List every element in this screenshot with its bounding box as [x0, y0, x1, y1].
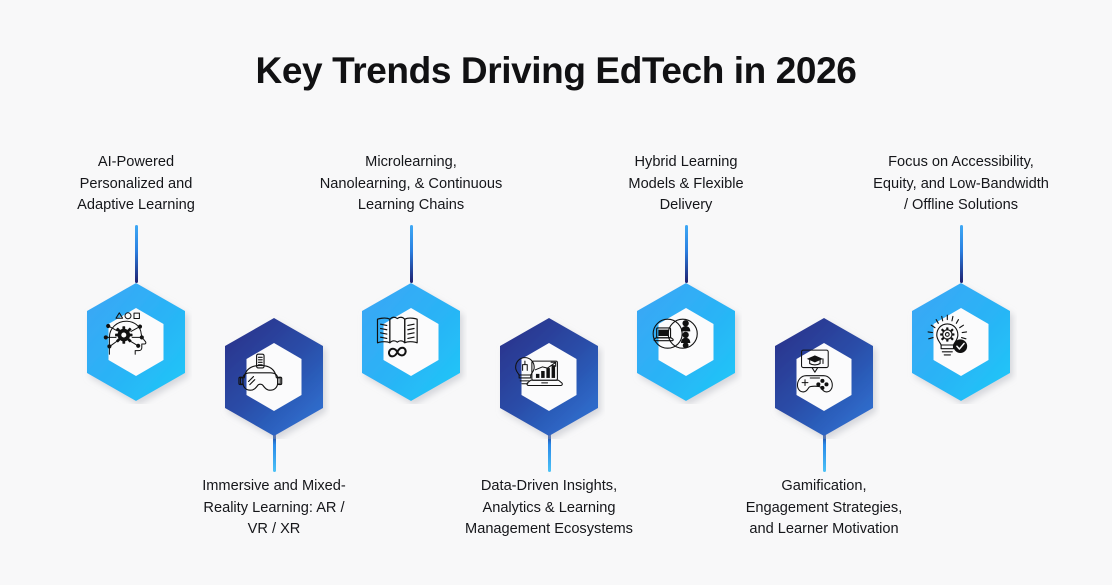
trend-label-immersive-mixed-reality-learning: Immersive and Mixed- Reality Learning: A… — [159, 476, 389, 541]
trend-label-ai-powered-personalized-adaptive-learning: AI-Powered Personalized and Adaptive Lea… — [36, 152, 236, 217]
hexagon-badge-gamification-engagement-learner-motivation[interactable] — [768, 315, 880, 439]
hexagon-badge-immersive-mixed-reality-learning[interactable] — [218, 315, 330, 439]
connector-line-hybrid-learning-models-flexible-delivery — [685, 225, 688, 283]
trend-label-accessibility-equity-low-bandwidth-offline: Focus on Accessibility, Equity, and Low-… — [831, 152, 1091, 217]
connector-line-ai-powered-personalized-adaptive-learning — [135, 225, 138, 283]
trend-label-microlearning-nanolearning-continuous-chains: Microlearning, Nanolearning, & Continuou… — [271, 152, 551, 217]
hexagon-badge-ai-powered-personalized-adaptive-learning[interactable] — [80, 280, 192, 404]
trend-label-hybrid-learning-models-flexible-delivery: Hybrid Learning Models & Flexible Delive… — [586, 152, 786, 217]
connector-line-accessibility-equity-low-bandwidth-offline — [960, 225, 963, 283]
hexagon-badge-hybrid-learning-models-flexible-delivery[interactable] — [630, 280, 742, 404]
infographic-canvas: Key Trends Driving EdTech in 2026 AI-Pow… — [0, 0, 1112, 585]
page-title: Key Trends Driving EdTech in 2026 — [0, 50, 1112, 92]
hexagon-badge-microlearning-nanolearning-continuous-chains[interactable] — [355, 280, 467, 404]
connector-line-microlearning-nanolearning-continuous-chains — [410, 225, 413, 283]
hexagon-badge-accessibility-equity-low-bandwidth-offline[interactable] — [905, 280, 1017, 404]
hexagon-badge-data-driven-insights-analytics-lms[interactable] — [493, 315, 605, 439]
trend-label-data-driven-insights-analytics-lms: Data-Driven Insights, Analytics & Learni… — [424, 476, 674, 541]
trend-label-gamification-engagement-learner-motivation: Gamification, Engagement Strategies, and… — [704, 476, 944, 541]
